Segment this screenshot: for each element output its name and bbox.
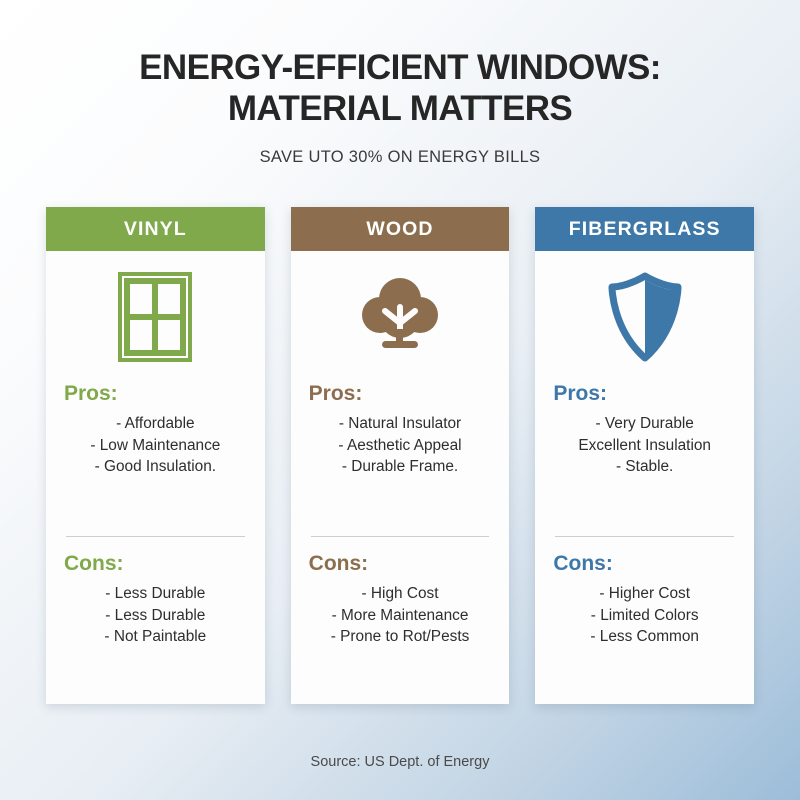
pros-section-wood: Pros: - Natural Insulator - Aesthetic Ap… [305,382,496,478]
card-header-wood: WOOD [291,207,510,251]
page-title: ENERGY-EFFICIENT WINDOWS: MATERIAL MATTE… [0,48,800,129]
list-item: Excellent Insulation [553,435,736,457]
card-fiberglass[interactable]: FIBERGRLASS Pros: - Very Durable Excelle… [535,207,754,704]
cons-list-fiberglass: - Higher Cost - Limited Colors - Less Co… [553,583,736,648]
pros-label-wood: Pros: [309,382,492,406]
list-item: - High Cost [309,583,492,605]
list-item: - Less Common [553,626,736,648]
section-divider-wood [311,536,490,537]
card-header-fiberglass: FIBERGRLASS [535,207,754,251]
card-title-wood: WOOD [366,218,433,241]
list-item: - Durable Frame. [309,456,492,478]
list-item: - Limited Colors [553,605,736,627]
cons-label-wood: Cons: [309,552,492,576]
list-item: - Aesthetic Appeal [309,435,492,457]
cons-section-wood: Cons: - High Cost - More Maintenance - P… [305,552,496,648]
list-item: - Prone to Rot/Pests [309,626,492,648]
list-item: - Affordable [64,413,247,435]
list-item: - Less Durable [64,583,247,605]
section-divider-vinyl [66,536,245,537]
card-wood[interactable]: WOOD [291,207,510,704]
list-item: - Stable. [553,456,736,478]
icon-shield-wrap [549,251,740,382]
pros-list-fiberglass: - Very Durable Excellent Insulation - St… [553,413,736,478]
list-item: - Good Insulation. [64,456,247,478]
card-title-fiberglass: FIBERGRLASS [569,218,721,241]
cons-label-vinyl: Cons: [64,552,247,576]
icon-window-wrap [60,251,251,382]
list-item: - Less Durable [64,605,247,627]
window-icon [118,272,192,362]
pros-section-fiberglass: Pros: - Very Durable Excellent Insulatio… [549,382,740,478]
pros-section-vinyl: Pros: - Affordable - Low Maintenance - G… [60,382,251,478]
icon-tree-wrap [305,251,496,382]
cons-list-vinyl: - Less Durable - Less Durable - Not Pain… [64,583,247,648]
list-item: - Not Paintable [64,626,247,648]
pros-label-fiberglass: Pros: [553,382,736,406]
list-item: - Low Maintenance [64,435,247,457]
list-item: - Natural Insulator [309,413,492,435]
tree-icon [358,271,442,363]
material-cards: VINYL Pros: - Affordable - Low Maintenan… [0,207,800,704]
page-subtitle: SAVE UTO 30% ON ENERGY BILLS [0,148,800,167]
list-item: - More Maintenance [309,605,492,627]
page-title-line-1: ENERGY-EFFICIENT WINDOWS: [139,48,661,87]
pros-label-vinyl: Pros: [64,382,247,406]
shield-icon [605,271,685,363]
list-item: - Very Durable [553,413,736,435]
pros-list-wood: - Natural Insulator - Aesthetic Appeal -… [309,413,492,478]
cons-section-vinyl: Cons: - Less Durable - Less Durable - No… [60,552,251,648]
card-title-vinyl: VINYL [124,218,187,241]
page-header: ENERGY-EFFICIENT WINDOWS: MATERIAL MATTE… [0,0,800,167]
source-footer: Source: US Dept. of Energy [0,754,800,770]
pros-list-vinyl: - Affordable - Low Maintenance - Good In… [64,413,247,478]
cons-section-fiberglass: Cons: - Higher Cost - Limited Colors - L… [549,552,740,648]
list-item: - Higher Cost [553,583,736,605]
cons-list-wood: - High Cost - More Maintenance - Prone t… [309,583,492,648]
card-header-vinyl: VINYL [46,207,265,251]
page-title-line-2: MATERIAL MATTERS [0,89,800,130]
section-divider-fiberglass [555,536,734,537]
card-vinyl[interactable]: VINYL Pros: - Affordable - Low Maintenan… [46,207,265,704]
cons-label-fiberglass: Cons: [553,552,736,576]
